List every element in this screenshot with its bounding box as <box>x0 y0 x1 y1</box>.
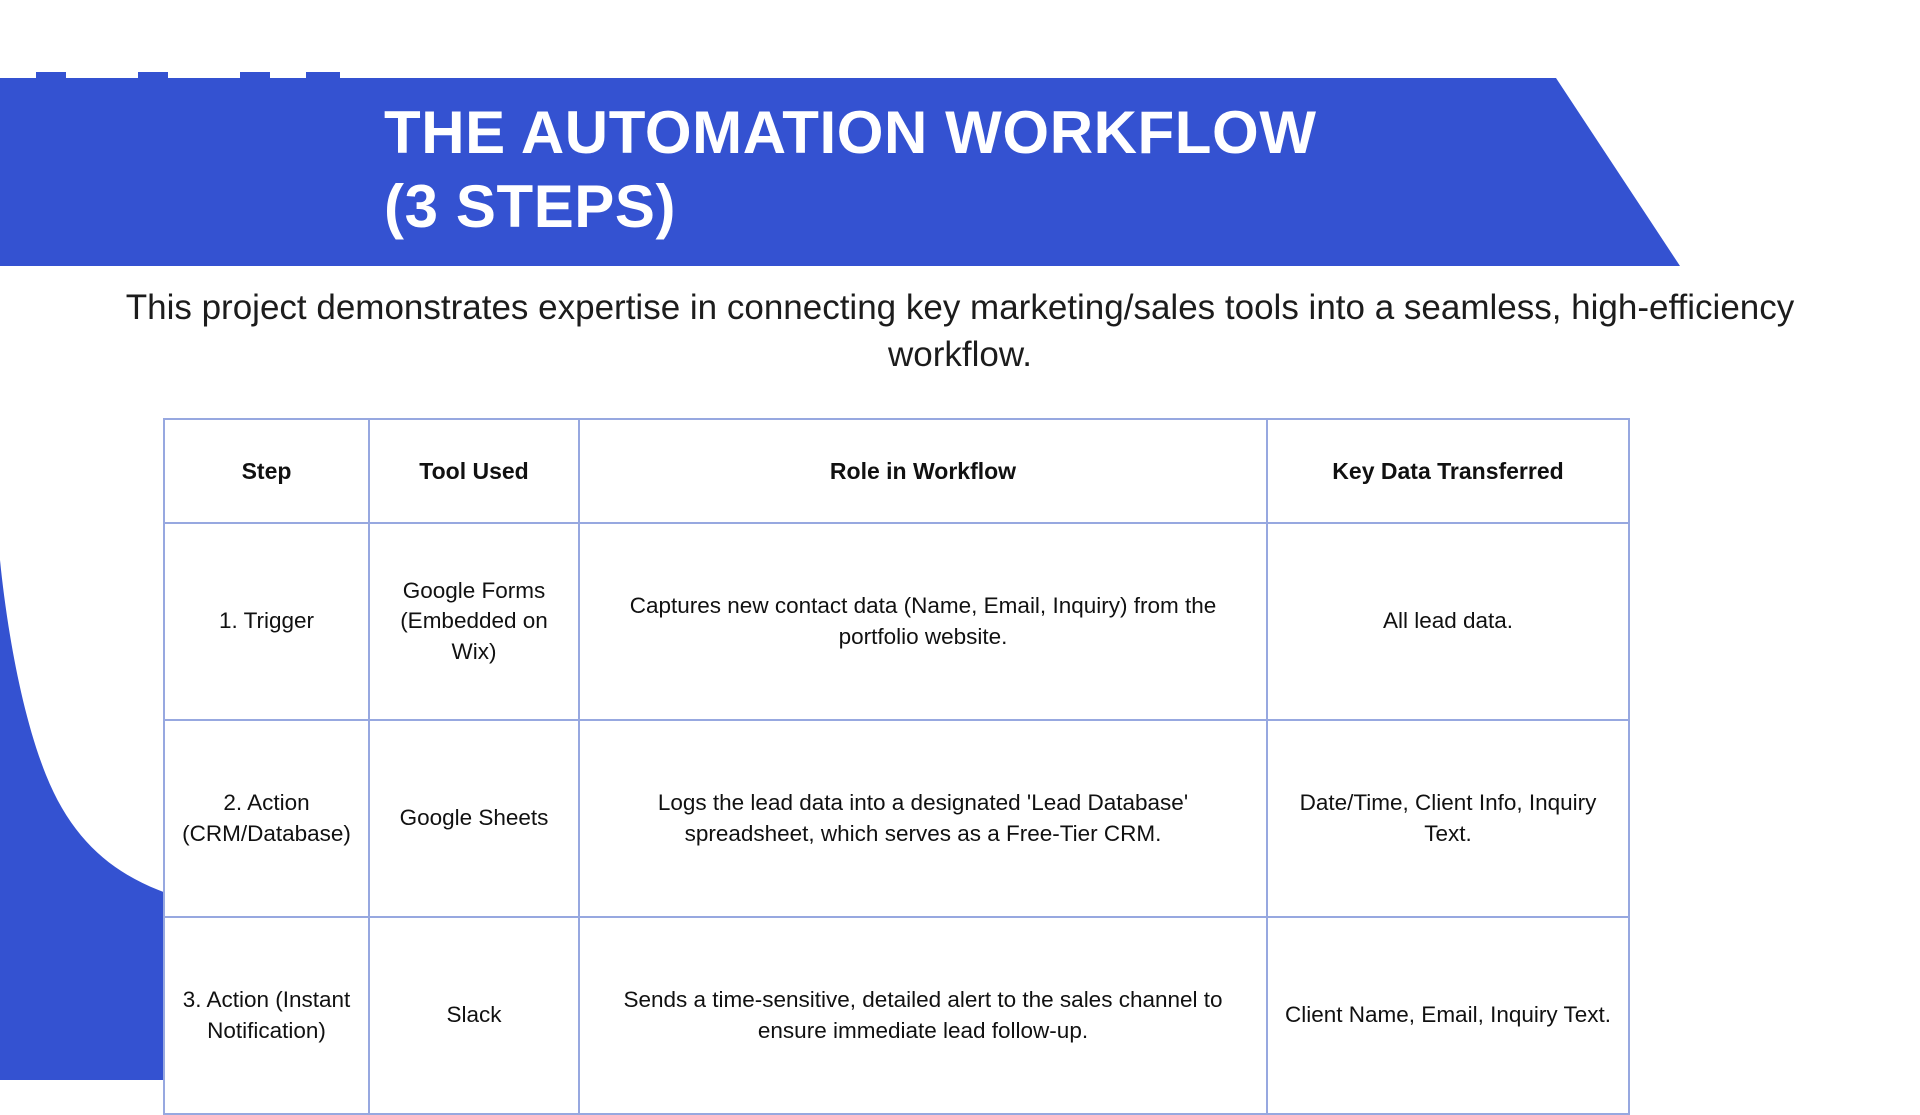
workflow-table-container: Step Tool Used Role in Workflow Key Data… <box>163 418 1628 1115</box>
cell-key-data: All lead data. <box>1267 523 1629 720</box>
column-header-step: Step <box>164 419 369 523</box>
cell-tool: Slack <box>369 917 579 1114</box>
header-banner: THE AUTOMATION WORKFLOW (3 STEPS) <box>0 78 1700 266</box>
cell-role: Logs the lead data into a designated 'Le… <box>579 720 1267 917</box>
cell-step: 1. Trigger <box>164 523 369 720</box>
cell-role: Sends a time-sensitive, detailed alert t… <box>579 917 1267 1114</box>
column-header-tool: Tool Used <box>369 419 579 523</box>
cell-role: Captures new contact data (Name, Email, … <box>579 523 1267 720</box>
cell-step: 3. Action (Instant Notification) <box>164 917 369 1114</box>
column-header-key: Key Data Transferred <box>1267 419 1629 523</box>
workflow-table: Step Tool Used Role in Workflow Key Data… <box>163 418 1630 1115</box>
table-row: 1. Trigger Google Forms (Embedded on Wix… <box>164 523 1629 720</box>
page-title: THE AUTOMATION WORKFLOW (3 STEPS) <box>384 96 1564 245</box>
cell-step: 2. Action (CRM/Database) <box>164 720 369 917</box>
cell-key-data: Client Name, Email, Inquiry Text. <box>1267 917 1629 1114</box>
column-header-role: Role in Workflow <box>579 419 1267 523</box>
cell-tool: Google Sheets <box>369 720 579 917</box>
cell-tool: Google Forms (Embedded on Wix) <box>369 523 579 720</box>
table-row: 2. Action (CRM/Database) Google Sheets L… <box>164 720 1629 917</box>
subtitle: This project demonstrates expertise in c… <box>120 285 1800 378</box>
cell-key-data: Date/Time, Client Info, Inquiry Text. <box>1267 720 1629 917</box>
table-row: 3. Action (Instant Notification) Slack S… <box>164 917 1629 1114</box>
table-header-row: Step Tool Used Role in Workflow Key Data… <box>164 419 1629 523</box>
